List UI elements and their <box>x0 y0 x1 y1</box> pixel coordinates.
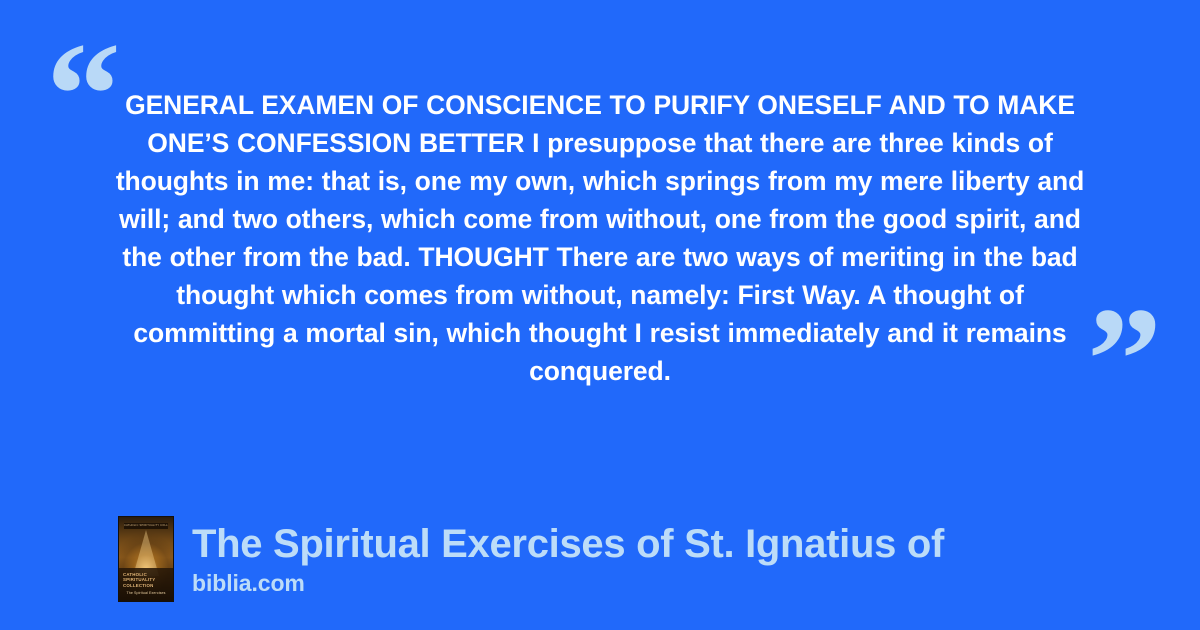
site-name[interactable]: biblia.com <box>192 569 944 597</box>
book-cover-thumbnail[interactable]: CATHOLIC SPIRITUALITY COLLECTION CATHOLI… <box>118 516 174 602</box>
quote-card: “ GENERAL EXAMEN OF CONSCIENCE TO PURIFY… <box>0 0 1200 630</box>
book-cover-series-text: CATHOLIC SPIRITUALITY COLLECTION <box>123 572 169 589</box>
quote-block: GENERAL EXAMEN OF CONSCIENCE TO PURIFY O… <box>104 86 1096 390</box>
book-cover-title-text: The Spiritual Exercises <box>123 591 169 596</box>
book-cover-publisher-text: CATHOLIC SPIRITUALITY COLLECTION <box>124 523 168 529</box>
book-title: The Spiritual Exercises of St. Ignatius … <box>192 521 944 567</box>
footer: CATHOLIC SPIRITUALITY COLLECTION CATHOLI… <box>118 516 944 602</box>
footer-text-group: The Spiritual Exercises of St. Ignatius … <box>192 521 944 597</box>
closing-quote-icon: ” <box>1087 285 1164 435</box>
book-cover-label: CATHOLIC SPIRITUALITY COLLECTION The Spi… <box>119 568 173 601</box>
book-cover-publisher-bar: CATHOLIC SPIRITUALITY COLLECTION <box>124 523 168 529</box>
quote-text: GENERAL EXAMEN OF CONSCIENCE TO PURIFY O… <box>104 86 1096 390</box>
